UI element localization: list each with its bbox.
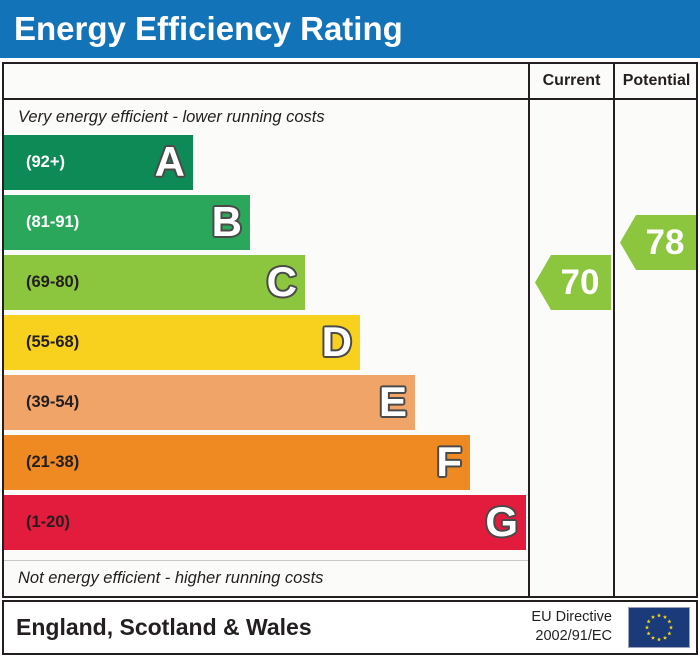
chart-footer: England, Scotland & Wales EU Directive 2… (2, 600, 698, 655)
footer-directive-line2: 2002/91/EC (502, 627, 612, 646)
rating-table: Current Potential Very energy efficient … (2, 62, 698, 598)
band-range-e: (39-54) (26, 375, 79, 430)
band-range-a: (92+) (26, 135, 65, 190)
band-letter-g: G (485, 495, 518, 550)
header-row-divider (4, 98, 696, 100)
energy-efficiency-rating-chart: Energy Efficiency Rating Current Potenti… (0, 0, 700, 657)
band-letter-f: F (436, 435, 462, 490)
band-b: (81-91) B (4, 195, 250, 250)
band-letter-e: E (379, 375, 407, 430)
current-rating-arrow: 70 (535, 255, 611, 310)
band-letter-a: A (155, 135, 185, 190)
bottom-caption-divider (4, 560, 528, 561)
band-e: (39-54) E (4, 375, 415, 430)
band-letter-c: C (267, 255, 297, 310)
caption-very-efficient: Very energy efficient - lower running co… (18, 108, 325, 127)
footer-region-label: England, Scotland & Wales (16, 602, 312, 653)
band-range-f: (21-38) (26, 435, 79, 490)
band-g: (1-20) G (4, 495, 526, 550)
band-a: (92+) A (4, 135, 193, 190)
potential-rating-value: 78 (646, 225, 685, 260)
band-range-b: (81-91) (26, 195, 79, 250)
band-d: (55-68) D (4, 315, 360, 370)
chart-header: Energy Efficiency Rating (0, 0, 700, 58)
current-rating-value: 70 (561, 265, 600, 300)
potential-rating-arrow: 78 (620, 215, 696, 270)
band-range-c: (69-80) (26, 255, 79, 310)
band-c: (69-80) C (4, 255, 305, 310)
eu-flag-stars (629, 608, 689, 647)
band-range-d: (55-68) (26, 315, 79, 370)
band-letter-d: D (322, 315, 352, 370)
eu-flag-icon (628, 607, 690, 648)
potential-column-divider (613, 64, 615, 596)
footer-directive: EU Directive 2002/91/EC (502, 608, 612, 646)
column-header-current: Current (530, 64, 613, 98)
current-column-divider (528, 64, 530, 596)
caption-not-efficient: Not energy efficient - higher running co… (18, 569, 323, 588)
band-letter-b: B (212, 195, 242, 250)
page-title: Energy Efficiency Rating (14, 6, 403, 52)
column-header-potential: Potential (615, 64, 698, 98)
footer-directive-line1: EU Directive (502, 608, 612, 627)
band-range-g: (1-20) (26, 495, 70, 550)
band-f: (21-38) F (4, 435, 470, 490)
